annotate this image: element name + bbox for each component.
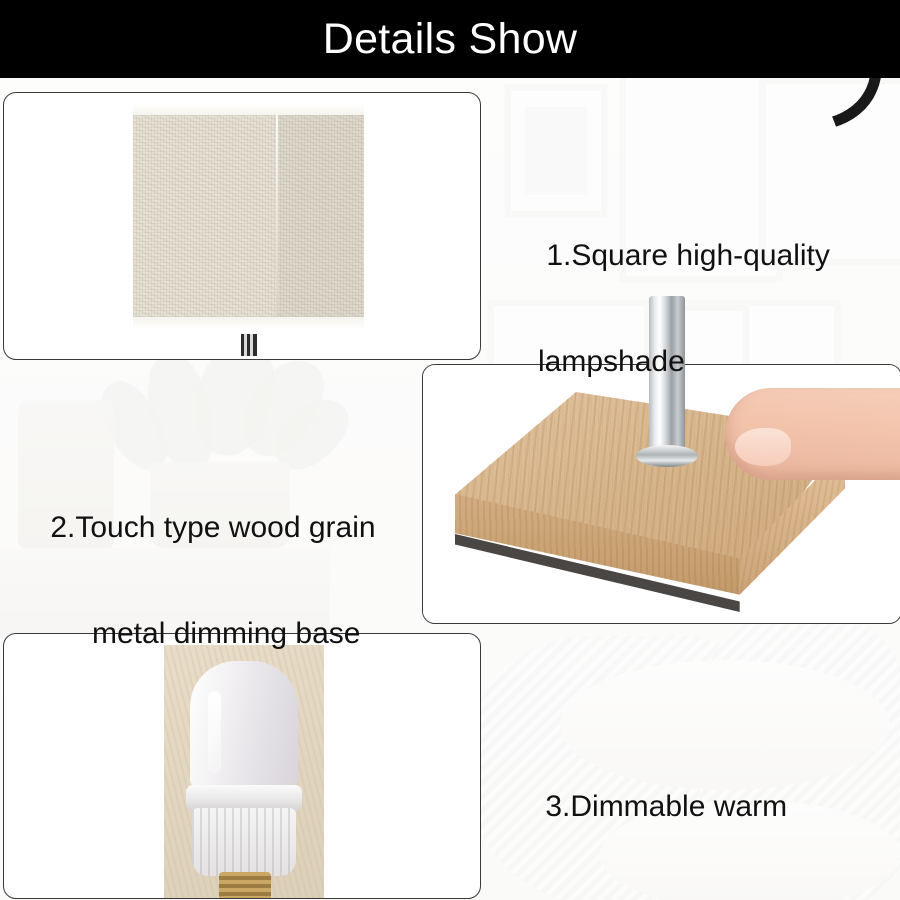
feature-caption-3-text-after: bulb: [694, 896, 759, 900]
bulb-ribbed-body: [192, 808, 296, 876]
lampshade-neck-fitting: [241, 334, 257, 356]
lampshade-photo: [4, 93, 480, 359]
lampshade-side-face: [277, 103, 364, 320]
product-detail-page: Details Show: [0, 0, 900, 900]
feature-caption-2-line-1: 2.Touch type wood grain: [50, 511, 375, 544]
header-banner: Details Show: [0, 0, 900, 78]
page-title: Details Show: [323, 18, 578, 61]
feature-caption-1: 1.Square high-quality lampshade: [513, 176, 830, 494]
feature-caption-1-line-1: 1.Square high-quality: [546, 239, 830, 272]
lampshade-top-trim: [133, 103, 364, 115]
feature-caption-2-line-2: metal dimming base: [17, 607, 376, 660]
feature-caption-3: 3.Dimmable warm white lamp bulb: [512, 727, 787, 900]
feature-caption-3-text-before: white: [546, 896, 624, 900]
square-lampshade: [133, 103, 364, 356]
lampshade-bottom-trim: [133, 317, 364, 330]
feature-caption-2: 2.Touch type wood grain metal dimming ba…: [17, 448, 376, 766]
lampshade-front-face: [133, 103, 277, 320]
feature-caption-3-line-2: white lamp bulb: [512, 886, 787, 900]
feature-card-lampshade: [3, 92, 481, 360]
feature-caption-3-line-1: 3.Dimmable warm: [545, 790, 787, 823]
feature-caption-3-emphasis: lamp: [624, 896, 694, 900]
bulb-screw-base: [219, 872, 271, 898]
lampshade-corner-edge: [276, 109, 278, 322]
feature-caption-1-line-2: lampshade: [513, 335, 830, 388]
